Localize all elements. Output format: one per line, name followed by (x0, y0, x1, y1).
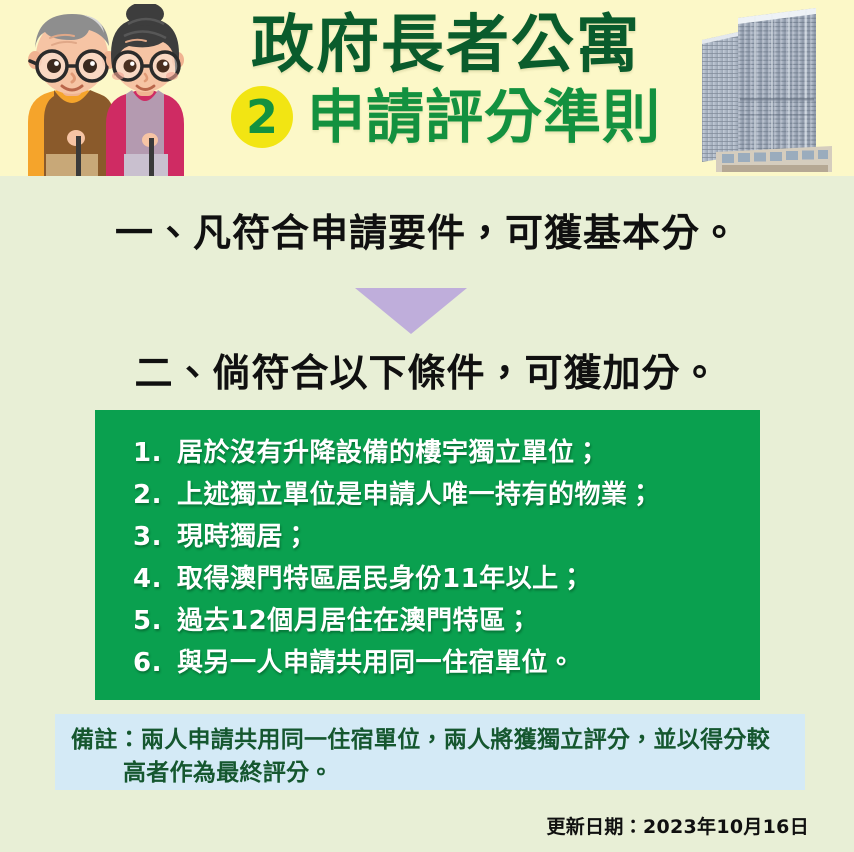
list-item-text: 與另一人申請共用同一住宿單位。 (177, 642, 760, 684)
list-item-number: 3. (133, 516, 177, 558)
step-number-badge: 2 (231, 86, 293, 148)
list-item: 6. 與另一人申請共用同一住宿單位。 (95, 642, 760, 684)
updated-date: 更新日期：2023年10月16日 (546, 814, 809, 840)
body-area: 一、凡符合申請要件，可獲基本分。 二、倘符合以下條件，可獲加分。 1. 居於沒有… (0, 176, 854, 852)
note-line-1: 備註：兩人申請共用同一住宿單位，兩人將獲獨立評分，並以得分較 (71, 724, 789, 757)
list-item-text: 取得澳門特區居民身份11年以上； (177, 558, 760, 600)
list-item-number: 1. (133, 432, 177, 474)
list-item: 2. 上述獨立單位是申請人唯一持有的物業； (95, 474, 760, 516)
step-one-text: 一、凡符合申請要件，可獲基本分。 (0, 208, 854, 258)
list-item: 4. 取得澳門特區居民身份11年以上； (95, 558, 760, 600)
criteria-list: 1. 居於沒有升降設備的樓宇獨立單位； 2. 上述獨立單位是申請人唯一持有的物業… (95, 432, 760, 684)
note-box: 備註：兩人申請共用同一住宿單位，兩人將獲獨立評分，並以得分較 高者作為最終評分。 (55, 714, 805, 790)
poster-title-primary: 政府長者公寓 (196, 8, 696, 82)
header-band: 政府長者公寓 2 申請評分準則 (0, 0, 854, 176)
list-item-text: 過去12個月居住在澳門特區； (177, 600, 760, 642)
list-item: 5. 過去12個月居住在澳門特區； (95, 600, 760, 642)
criteria-box: 1. 居於沒有升降設備的樓宇獨立單位； 2. 上述獨立單位是申請人唯一持有的物業… (95, 410, 760, 700)
poster-root: 政府長者公寓 2 申請評分準則 (0, 0, 854, 852)
apartment-tower-photo (698, 2, 848, 176)
list-item-number: 5. (133, 600, 177, 642)
title-block: 政府長者公寓 2 申請評分準則 (196, 6, 696, 172)
step-two-text: 二、倘符合以下條件，可獲加分。 (0, 348, 854, 398)
list-item-text: 居於沒有升降設備的樓宇獨立單位； (177, 432, 760, 474)
list-item-number: 6. (133, 642, 177, 684)
list-item-text: 現時獨居； (177, 516, 760, 558)
list-item-text: 上述獨立單位是申請人唯一持有的物業； (177, 474, 760, 516)
poster-title-secondary: 申請評分準則 (307, 84, 661, 150)
list-item-number: 4. (133, 558, 177, 600)
title-secondary-row: 2 申請評分準則 (196, 84, 696, 150)
list-item: 3. 現時獨居； (95, 516, 760, 558)
list-item: 1. 居於沒有升降設備的樓宇獨立單位； (95, 432, 760, 474)
arrow-down-icon (355, 288, 467, 334)
list-item-number: 2. (133, 474, 177, 516)
note-line-2: 高者作為最終評分。 (71, 757, 789, 790)
